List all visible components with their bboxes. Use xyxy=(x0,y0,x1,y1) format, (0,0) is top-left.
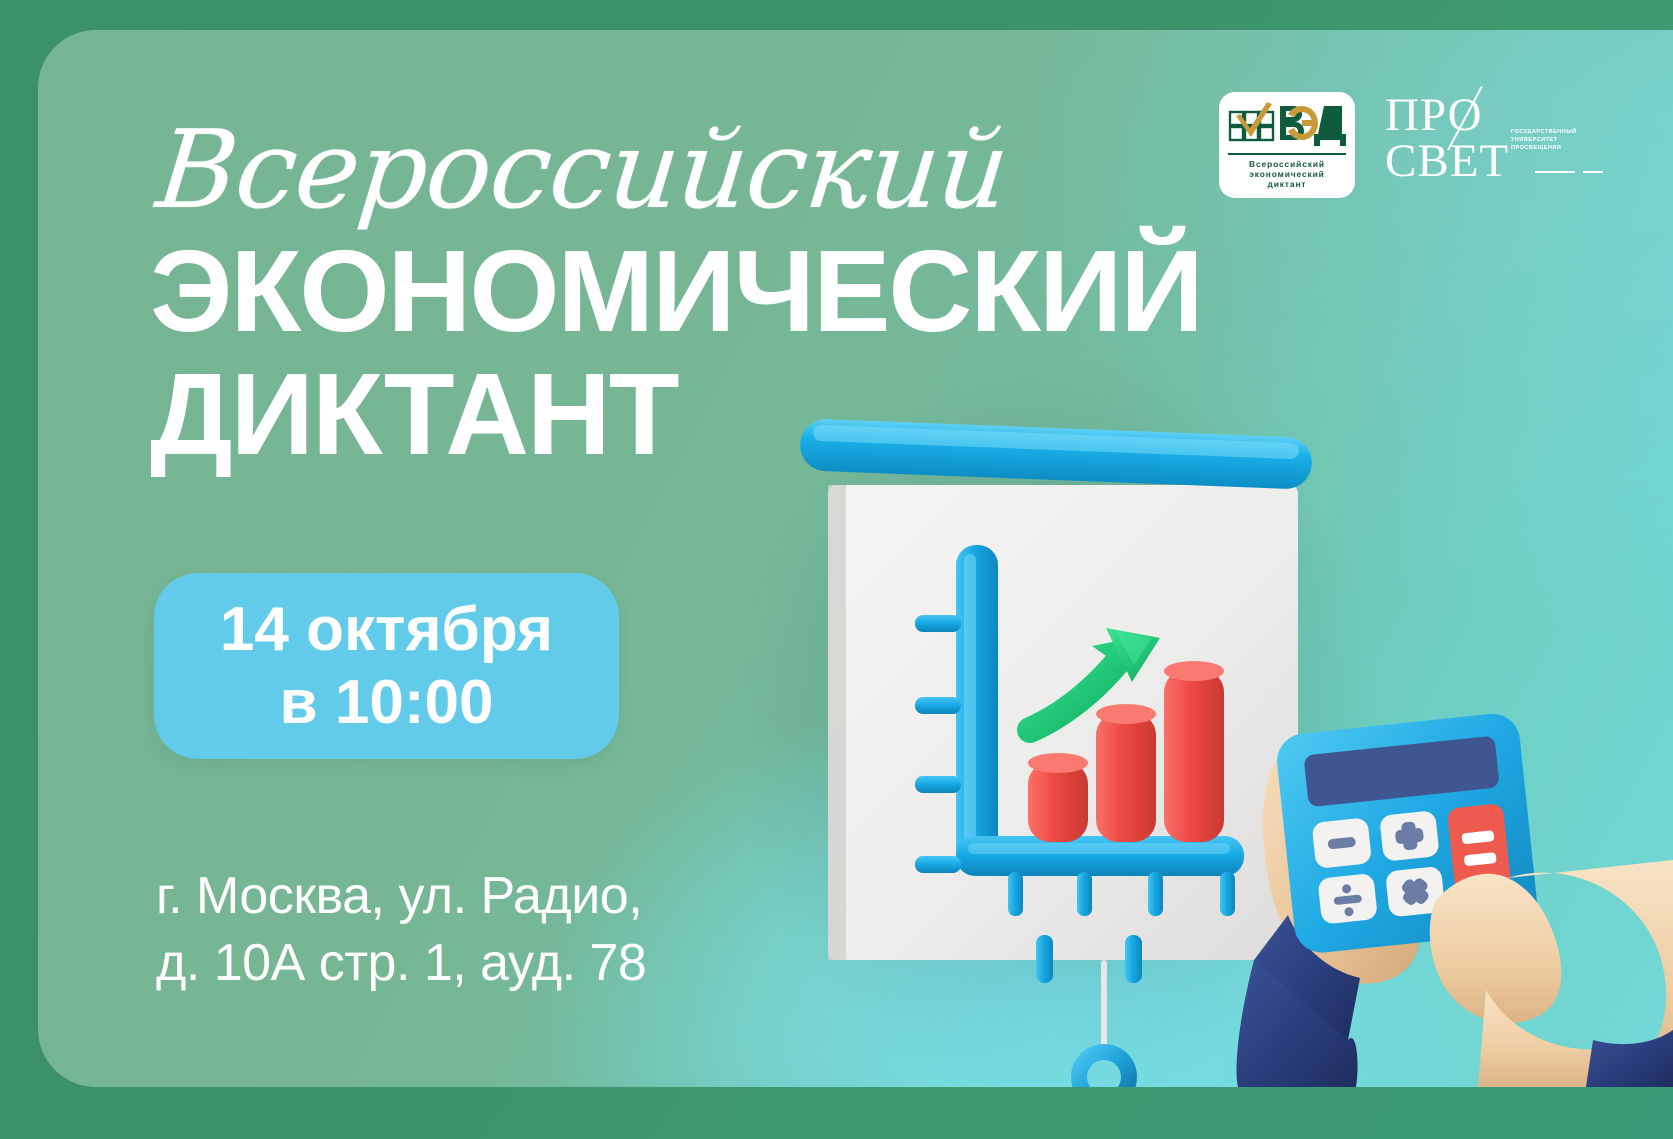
ved-caption-line-1: Всероссийский xyxy=(1228,159,1346,169)
flipchart-board xyxy=(828,485,1298,960)
script-title: Всероссийский xyxy=(152,116,1216,226)
cord-ring xyxy=(1079,1052,1129,1087)
prosvet-logo: ПРО СВЕТ ГОСУДАРСТВЕННЫЙ УНИВЕРСИТЕТ ПРО… xyxy=(1385,92,1603,196)
key-multiply xyxy=(1385,866,1446,918)
main-title-line-2: ДИКТАНТ xyxy=(150,353,1210,476)
prosvet-dash-1 xyxy=(1535,171,1575,173)
chart-x-axis xyxy=(956,836,1244,876)
ved-logo-caption: Всероссийский экономический диктант xyxy=(1228,159,1346,190)
key-equals xyxy=(1447,803,1513,910)
chart-x-ticks xyxy=(1008,872,1235,916)
calculator-display xyxy=(1303,736,1499,808)
left-hand xyxy=(1237,753,1422,1087)
ved-caption-line-3: диктант xyxy=(1228,179,1346,189)
chart-y-axis xyxy=(956,545,998,875)
bar-2 xyxy=(1096,704,1156,842)
key-minus xyxy=(1312,817,1373,869)
prosvet-caption-line-3: ПРОСВЕЩЕНИЯ xyxy=(1511,144,1595,152)
prosvet-caption-line-2: УНИВЕРСИТЕТ xyxy=(1511,136,1595,144)
address-line-1: г. Москва, ул. Радио, xyxy=(156,863,646,930)
prosvet-caption-line-1: ГОСУДАРСТВЕННЫЙ xyxy=(1511,128,1595,136)
date-badge-line-1: 14 октября xyxy=(220,593,553,666)
poster-inner-panel: Всероссийский ЭКОНОМИЧЕСКИЙ ДИКТАНТ 14 о… xyxy=(38,30,1673,1087)
poster-root: Всероссийский ЭКОНОМИЧЕСКИЙ ДИКТАНТ 14 о… xyxy=(0,0,1673,1139)
pointing-finger xyxy=(1430,874,1562,1023)
chart-y-ticks xyxy=(915,615,961,873)
growth-arrow xyxy=(1028,628,1160,732)
bar-1 xyxy=(1028,753,1088,842)
key-divide xyxy=(1317,873,1378,925)
board-bottom-pegs xyxy=(1036,935,1142,983)
ved-logo-divider xyxy=(1228,153,1346,155)
right-hand xyxy=(1430,860,1673,1087)
main-title: ЭКОНОМИЧЕСКИЙ ДИКТАНТ xyxy=(150,230,1210,476)
prosvet-caption: ГОСУДАРСТВЕННЫЙ УНИВЕРСИТЕТ ПРОСВЕЩЕНИЯ xyxy=(1511,128,1595,152)
key-plus xyxy=(1379,810,1440,862)
date-badge-line-2: в 10:00 xyxy=(280,666,494,739)
chart-bars xyxy=(1028,661,1224,842)
ved-logo: Всероссийский экономический диктант xyxy=(1219,92,1355,198)
bar-3 xyxy=(1164,661,1224,842)
date-badge: 14 октября в 10:00 xyxy=(154,573,619,759)
prosvet-dash-2 xyxy=(1583,171,1603,173)
main-title-line-1: ЭКОНОМИЧЕСКИЙ xyxy=(150,230,1210,353)
headline-block: Всероссийский ЭКОНОМИЧЕСКИЙ ДИКТАНТ xyxy=(150,116,1210,476)
logo-group: Всероссийский экономический диктант ПРО … xyxy=(1219,92,1603,198)
address-block: г. Москва, ул. Радио, д. 10А стр. 1, ауд… xyxy=(156,863,646,996)
address-line-2: д. 10А стр. 1, ауд. 78 xyxy=(156,930,646,997)
calculator-keys xyxy=(1312,803,1514,925)
ved-caption-line-2: экономический xyxy=(1228,169,1346,179)
ved-logo-mark xyxy=(1228,100,1346,152)
pull-cord xyxy=(1079,960,1129,1087)
calculator xyxy=(1274,711,1540,955)
right-sleeve xyxy=(1586,1030,1673,1087)
left-sleeve xyxy=(1254,915,1360,1040)
